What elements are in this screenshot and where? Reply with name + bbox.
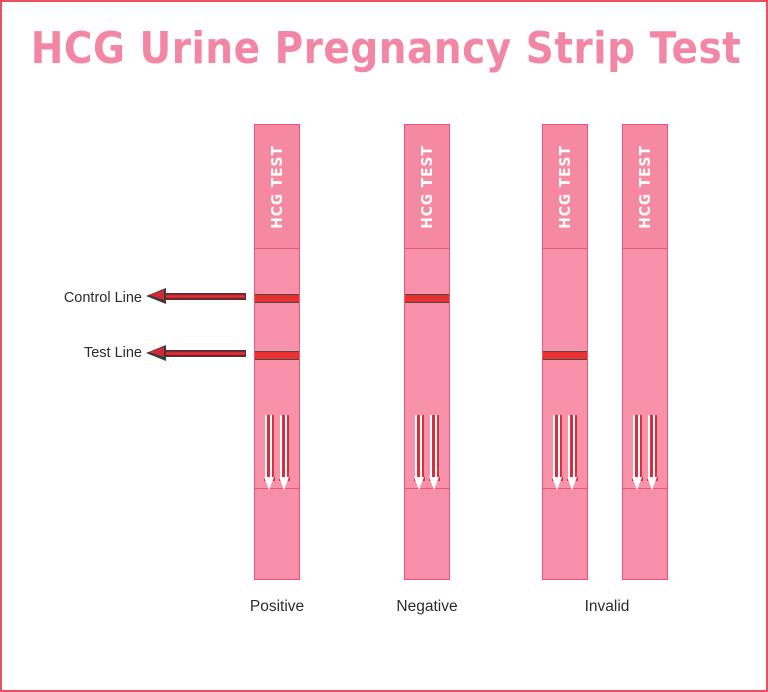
strip-invalid-a[interactable]: HCG TEST (542, 124, 588, 580)
test-line-arrow-icon (146, 345, 246, 361)
strip-handle-band (255, 488, 299, 579)
test-line-band (542, 351, 588, 360)
strip-result-window (543, 249, 587, 490)
strip-negative[interactable]: HCG TEST (404, 124, 450, 580)
strip-brand-text: HCG TEST (418, 145, 436, 228)
control-line-arrow-icon (146, 288, 246, 304)
strip-result-window (623, 249, 667, 490)
pregnancy-test-infographic: HCG Urine Pregnancy Strip Test Control L… (0, 0, 768, 692)
page-title: HCG Urine Pregnancy Strip Test (2, 24, 768, 74)
strip-result-window (255, 249, 299, 490)
strip-brand-text: HCG TEST (268, 145, 286, 228)
strip-brand-text: HCG TEST (636, 145, 654, 228)
test-line-label: Test Line (22, 345, 142, 361)
strip-handle-band (543, 488, 587, 579)
strip-positive[interactable]: HCG TEST (254, 124, 300, 580)
caption-positive: Positive (217, 598, 337, 616)
control-line-label: Control Line (22, 290, 142, 306)
strip-handle-band (405, 488, 449, 579)
strip-invalid-b[interactable]: HCG TEST (622, 124, 668, 580)
strip-result-window (405, 249, 449, 490)
caption-invalid: Invalid (547, 598, 667, 616)
test-line-band (254, 351, 300, 360)
strip-brand-text: HCG TEST (556, 145, 574, 228)
control-line-band (404, 294, 450, 303)
strip-handle-band (623, 488, 667, 579)
control-line-band (254, 294, 300, 303)
caption-negative: Negative (367, 598, 487, 616)
